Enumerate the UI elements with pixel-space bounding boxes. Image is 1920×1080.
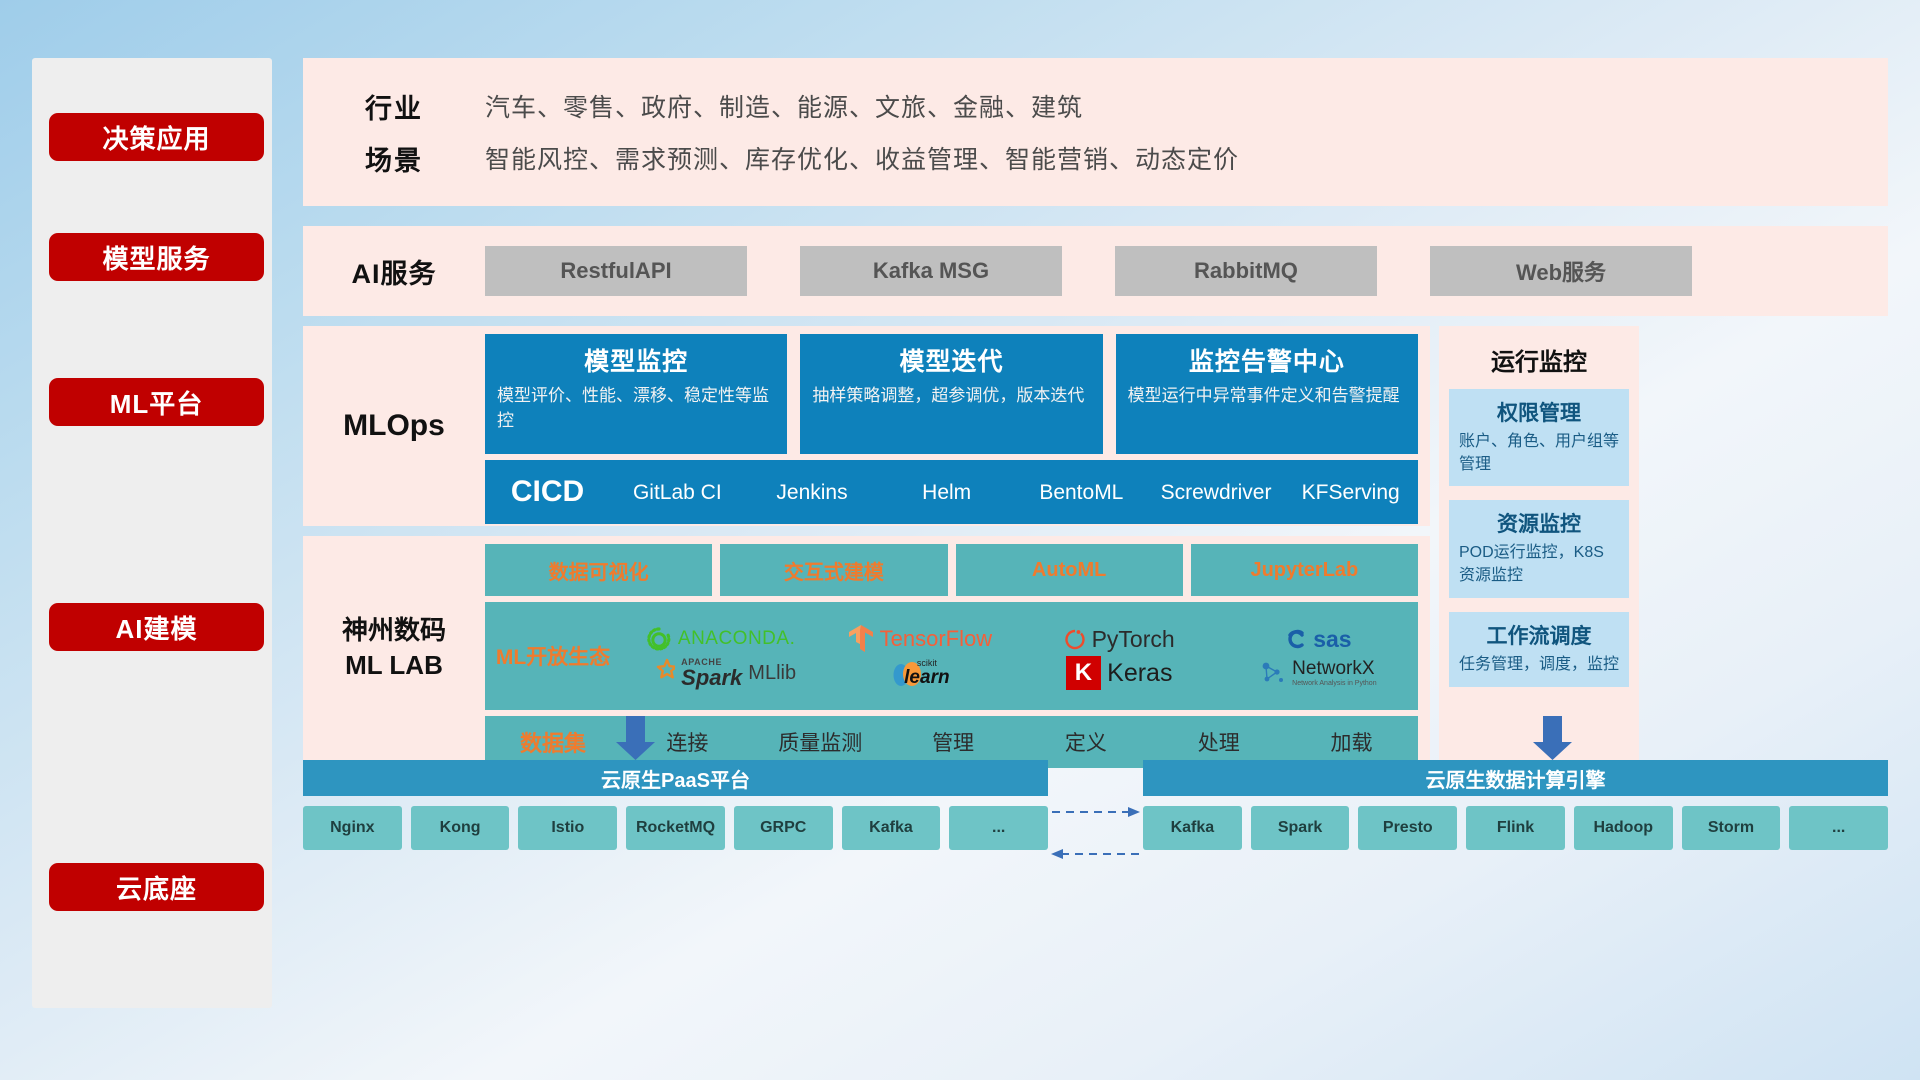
bidirectional-connector <box>1048 760 1143 850</box>
stage-chip-ai-modeling[interactable]: AI建模 <box>49 603 264 651</box>
data-engine-chip-list: Kafka Spark Presto Flink Hadoop Storm ..… <box>1143 806 1888 850</box>
networkx-mark-icon <box>1260 660 1286 686</box>
paas-chip-kong[interactable]: Kong <box>411 806 510 850</box>
cicd-item-screwdriver[interactable]: Screwdriver <box>1149 482 1284 503</box>
industry-key: 行业 <box>303 87 485 126</box>
scenario-key: 场景 <box>303 139 485 178</box>
data-engine-group: 云原生数据计算引擎 Kafka Spark Presto Flink Hadoo… <box>1143 760 1888 850</box>
cicd-item-bentoml[interactable]: BentoML <box>1014 482 1149 503</box>
stage-chip-ml-platform[interactable]: ML平台 <box>49 378 264 426</box>
cicd-item-kfserving[interactable]: KFServing <box>1283 482 1418 503</box>
mlops-body: 模型监控 模型评价、性能、漂移、稳定性等监控 模型迭代 抽样策略调整，超参调优，… <box>485 326 1430 526</box>
stage-chip-model-service[interactable]: 模型服务 <box>49 233 264 281</box>
ml-open-ecosystem-bar: ML开放生态 ANACONDA. <box>485 602 1418 710</box>
spark-wordmark: Spark <box>681 667 742 689</box>
engine-chip-more[interactable]: ... <box>1789 806 1888 850</box>
stage-chip-cloud-base[interactable]: 云底座 <box>49 863 264 911</box>
paas-chip-kafka[interactable]: Kafka <box>842 806 941 850</box>
spark-mllib-logo: APACHE Spark MLlib <box>621 658 820 689</box>
stage-label: ML平台 <box>110 384 204 421</box>
cicd-item-list: GitLab CI Jenkins Helm BentoML Screwdriv… <box>610 482 1418 503</box>
application-band: 行业 汽车、零售、政府、制造、能源、文旅、金融、建筑 场景 智能风控、需求预测、… <box>303 58 1888 206</box>
engine-chip-kafka[interactable]: Kafka <box>1143 806 1242 850</box>
monitoring-card-resource[interactable]: 资源监控 POD运行监控，K8S资源监控 <box>1449 500 1629 597</box>
stage-label: 决策应用 <box>102 119 210 156</box>
keras-wordmark: Keras <box>1107 659 1172 688</box>
upward-arrow-group <box>303 716 1888 760</box>
paas-group: 云原生PaaS平台 Nginx Kong Istio RocketMQ GRPC… <box>303 760 1048 850</box>
ml-lab-tool-list: 数据可视化 交互式建模 AutoML JupyterLab <box>485 544 1418 596</box>
engine-chip-hadoop[interactable]: Hadoop <box>1574 806 1673 850</box>
scenario-value: 智能风控、需求预测、库存优化、收益管理、智能营销、动态定价 <box>485 140 1239 176</box>
engine-chip-presto[interactable]: Presto <box>1358 806 1457 850</box>
networkx-logo: NetworkX Network Analysis in Python <box>1219 659 1418 688</box>
ml-lab-tool-automl[interactable]: AutoML <box>956 544 1183 596</box>
stage-label: 云底座 <box>116 869 197 906</box>
keras-mark-icon: K <box>1066 656 1101 690</box>
stage-label: AI建模 <box>115 609 197 646</box>
ai-service-item-list: RestfulAPI Kafka MSG RabbitMQ Web服务 <box>485 246 1692 296</box>
paas-chip-more[interactable]: ... <box>949 806 1048 850</box>
mlops-card-desc: 模型运行中异常事件定义和告警提醒 <box>1128 384 1406 409</box>
monitoring-card-desc: 账户、角色、用户组等管理 <box>1459 431 1619 476</box>
scikit-learn-logo: scikit learn <box>820 656 1019 690</box>
monitoring-card-desc: 任务管理，调度，监控 <box>1459 654 1619 677</box>
mlops-band: MLOps 模型监控 模型评价、性能、漂移、稳定性等监控 模型迭代 抽样策略调整… <box>303 326 1430 526</box>
mlops-card-model-monitoring[interactable]: 模型监控 模型评价、性能、漂移、稳定性等监控 <box>485 334 787 454</box>
ai-service-band: AI服务 RestfulAPI Kafka MSG RabbitMQ Web服务 <box>303 226 1888 316</box>
cicd-item-helm[interactable]: Helm <box>879 482 1014 503</box>
stage-chip-decision-app[interactable]: 决策应用 <box>49 113 264 161</box>
mlops-card-desc: 模型评价、性能、漂移、稳定性等监控 <box>497 384 775 433</box>
learn-text: learn <box>904 668 949 687</box>
runtime-monitoring-title: 运行监控 <box>1439 326 1639 389</box>
paas-chip-nginx[interactable]: Nginx <box>303 806 402 850</box>
tensorflow-logo: TensorFlow <box>820 624 1019 654</box>
sas-wordmark: sas <box>1313 626 1351 653</box>
tensorflow-wordmark: TensorFlow <box>880 626 992 652</box>
networkx-wordmark: NetworkX <box>1292 659 1374 680</box>
ai-service-item-rabbitmq[interactable]: RabbitMQ <box>1115 246 1377 296</box>
mlops-card-title: 模型迭代 <box>812 342 1090 378</box>
ml-lab-tool-data-visualization[interactable]: 数据可视化 <box>485 544 712 596</box>
ai-service-key: AI服务 <box>303 252 485 291</box>
ml-lab-key-line1: 神州数码 <box>342 613 446 648</box>
stage-label-column: 决策应用 模型服务 ML平台 AI建模 云底座 <box>32 58 272 1008</box>
cicd-item-jenkins[interactable]: Jenkins <box>745 482 880 503</box>
monitoring-card-title: 工作流调度 <box>1459 620 1619 650</box>
tensorflow-mark-icon <box>848 624 874 654</box>
stage-label: 模型服务 <box>102 239 210 276</box>
anaconda-wordmark: ANACONDA. <box>678 628 795 650</box>
ml-lab-key-line2: ML LAB <box>345 648 443 683</box>
engine-chip-storm[interactable]: Storm <box>1682 806 1781 850</box>
paas-chip-rocketmq[interactable]: RocketMQ <box>626 806 725 850</box>
mlops-card-title: 监控告警中心 <box>1128 342 1406 378</box>
engine-chip-spark[interactable]: Spark <box>1251 806 1350 850</box>
runtime-monitoring-panel: 运行监控 权限管理 账户、角色、用户组等管理 资源监控 POD运行监控，K8S资… <box>1439 326 1639 760</box>
ai-service-item-restfulapi[interactable]: RestfulAPI <box>485 246 747 296</box>
spark-star-icon <box>645 658 675 688</box>
ml-open-ecosystem-label: ML开放生态 <box>485 641 621 671</box>
anaconda-mark-icon <box>646 626 672 652</box>
engine-chip-flink[interactable]: Flink <box>1466 806 1565 850</box>
monitoring-card-desc: POD运行监控，K8S资源监控 <box>1459 542 1619 587</box>
cicd-bar: CICD GitLab CI Jenkins Helm BentoML Scre… <box>485 460 1418 524</box>
pytorch-wordmark: PyTorch <box>1092 626 1175 653</box>
mlops-card-title: 模型监控 <box>497 342 775 378</box>
sas-logo: sas <box>1219 626 1418 653</box>
mllib-wordmark: MLlib <box>748 662 796 685</box>
mlops-key: MLOps <box>303 326 485 526</box>
cloud-base-section: 云原生PaaS平台 Nginx Kong Istio RocketMQ GRPC… <box>303 760 1888 850</box>
monitoring-card-title: 权限管理 <box>1459 397 1619 427</box>
cicd-label: CICD <box>485 475 610 509</box>
dashed-arrow-icon <box>1048 782 1143 892</box>
monitoring-card-permission[interactable]: 权限管理 账户、角色、用户组等管理 <box>1449 389 1629 486</box>
mlops-card-model-iteration[interactable]: 模型迭代 抽样策略调整，超参调优，版本迭代 <box>800 334 1102 454</box>
mlops-card-alert-center[interactable]: 监控告警中心 模型运行中异常事件定义和告警提醒 <box>1116 334 1418 454</box>
anaconda-logo: ANACONDA. <box>621 626 820 652</box>
networkx-tagline: Network Analysis in Python <box>1292 680 1376 688</box>
ai-service-item-web-service[interactable]: Web服务 <box>1430 246 1692 296</box>
pytorch-mark-icon <box>1064 626 1086 652</box>
monitoring-card-title: 资源监控 <box>1459 508 1619 538</box>
mlops-card-list: 模型监控 模型评价、性能、漂移、稳定性等监控 模型迭代 抽样策略调整，超参调优，… <box>485 334 1418 454</box>
ml-lab-tool-interactive-modeling[interactable]: 交互式建模 <box>720 544 947 596</box>
paas-chip-list: Nginx Kong Istio RocketMQ GRPC Kafka ... <box>303 806 1048 850</box>
pytorch-logo: PyTorch <box>1020 626 1219 653</box>
paas-chip-grpc[interactable]: GRPC <box>734 806 833 850</box>
sas-mark-icon <box>1285 628 1307 650</box>
cicd-item-gitlab-ci[interactable]: GitLab CI <box>610 482 745 503</box>
data-engine-title: 云原生数据计算引擎 <box>1143 760 1888 796</box>
scenario-row: 场景 智能风控、需求预测、库存优化、收益管理、智能营销、动态定价 <box>303 132 1888 184</box>
monitoring-card-workflow[interactable]: 工作流调度 任务管理，调度，监控 <box>1449 612 1629 687</box>
paas-chip-istio[interactable]: Istio <box>518 806 617 850</box>
ecosystem-logo-grid: ANACONDA. TensorFlow <box>621 622 1418 690</box>
keras-logo: K Keras <box>1020 656 1219 690</box>
ai-service-item-kafka-msg[interactable]: Kafka MSG <box>800 246 1062 296</box>
industry-value: 汽车、零售、政府、制造、能源、文旅、金融、建筑 <box>485 88 1083 124</box>
paas-title: 云原生PaaS平台 <box>303 760 1048 796</box>
ml-lab-tool-jupyterlab[interactable]: JupyterLab <box>1191 544 1418 596</box>
mlops-card-desc: 抽样策略调整，超参调优，版本迭代 <box>812 384 1090 409</box>
industry-row: 行业 汽车、零售、政府、制造、能源、文旅、金融、建筑 <box>303 80 1888 132</box>
